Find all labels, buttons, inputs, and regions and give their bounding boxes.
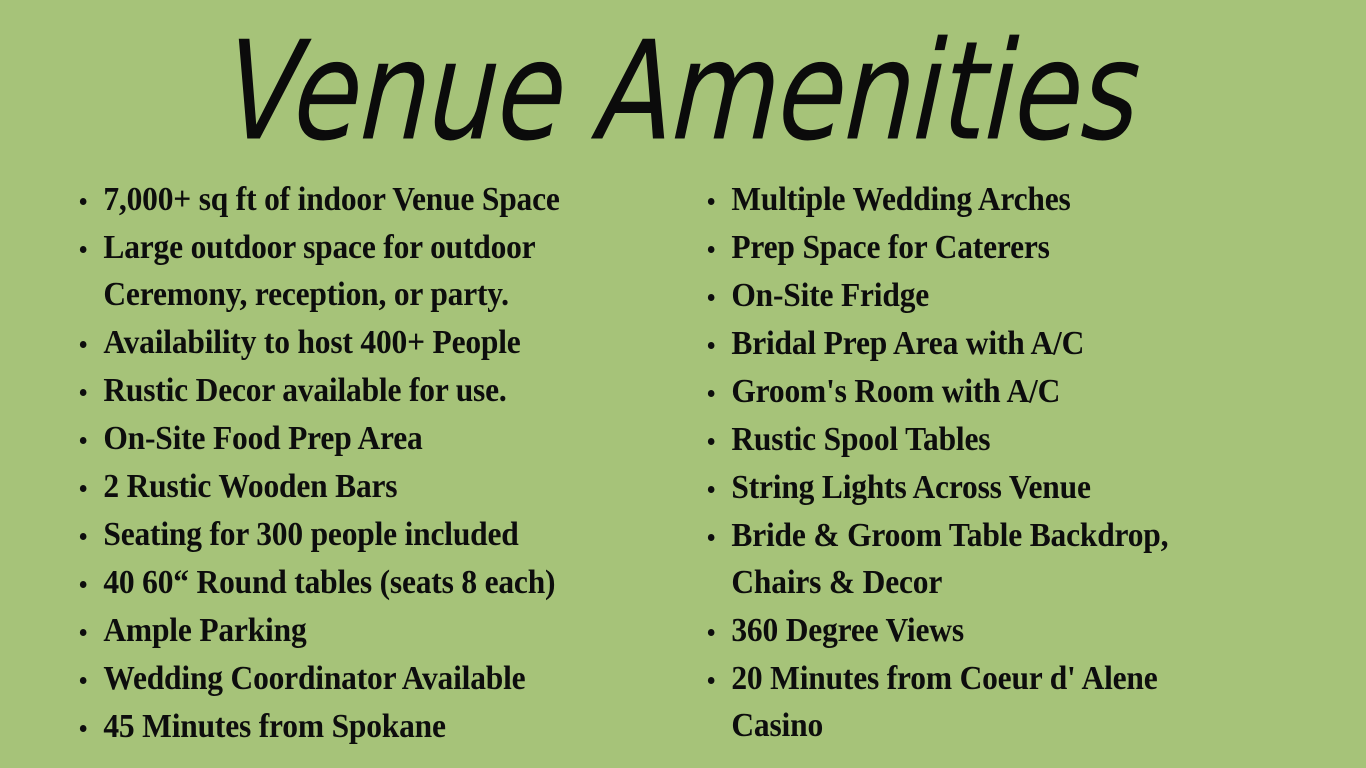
amenity-item-label: 40 60“ Round tables (seats 8 each) <box>103 564 555 601</box>
amenity-item: Bride & Groom Table Backdrop, Chairs & D… <box>706 512 1232 606</box>
amenities-column-right: Multiple Wedding ArchesPrep Space for Ca… <box>660 176 1366 756</box>
amenity-item: Wedding Coordinator Available <box>78 655 625 702</box>
amenity-item: 7,000+ sq ft of indoor Venue Space <box>78 176 625 223</box>
amenity-item: Bridal Prep Area with A/C <box>706 320 1232 367</box>
amenity-item: 2 Rustic Wooden Bars <box>78 463 625 510</box>
slide-canvas: Venue Amenities 7,000+ sq ft of indoor V… <box>0 0 1366 768</box>
amenities-list-left: 7,000+ sq ft of indoor Venue SpaceLarge … <box>78 176 660 750</box>
amenity-item: 360 Degree Views <box>706 607 1232 654</box>
amenity-item: 45 Minutes from Spokane <box>78 703 625 750</box>
amenity-item: Rustic Decor available for use. <box>78 367 625 414</box>
amenity-item-label: Seating for 300 people included <box>103 516 518 553</box>
amenity-item-label: On-Site Fridge <box>731 277 929 314</box>
amenity-item-label: 2 Rustic Wooden Bars <box>103 468 397 505</box>
amenity-item-label: Ample Parking <box>103 612 306 649</box>
amenity-item-label: Rustic Decor available for use. <box>103 372 506 409</box>
amenity-item: On-Site Food Prep Area <box>78 415 625 462</box>
amenity-item-label: Bride & Groom Table Backdrop, Chairs & D… <box>731 517 1168 601</box>
amenity-item-label: Wedding Coordinator Available <box>103 660 525 697</box>
amenity-item-label: On-Site Food Prep Area <box>103 420 422 457</box>
amenity-item-label: 360 Degree Views <box>731 612 964 649</box>
amenity-item: Prep Space for Caterers <box>706 224 1232 271</box>
amenity-item: Seating for 300 people included <box>78 511 625 558</box>
amenity-item: 20 Minutes from Coeur d' Alene Casino <box>706 655 1232 749</box>
amenity-item-label: Groom's Room with A/C <box>731 373 1060 410</box>
amenity-item: Multiple Wedding Arches <box>706 176 1232 223</box>
amenity-item-label: Availability to host 400+ People <box>103 324 520 361</box>
amenity-item-label: Large outdoor space for outdoor Ceremony… <box>103 229 535 313</box>
amenities-list-right: Multiple Wedding ArchesPrep Space for Ca… <box>706 176 1366 749</box>
amenity-item-label: 45 Minutes from Spokane <box>103 708 445 745</box>
amenity-item-label: Bridal Prep Area with A/C <box>731 325 1084 362</box>
amenities-columns: 7,000+ sq ft of indoor Venue SpaceLarge … <box>0 176 1366 756</box>
amenity-item-label: 7,000+ sq ft of indoor Venue Space <box>103 181 559 218</box>
amenity-item: Availability to host 400+ People <box>78 319 625 366</box>
amenity-item: Large outdoor space for outdoor Ceremony… <box>78 224 625 318</box>
amenities-column-left: 7,000+ sq ft of indoor Venue SpaceLarge … <box>0 176 660 756</box>
amenity-item-label: Multiple Wedding Arches <box>731 181 1070 218</box>
title-container: Venue Amenities <box>0 16 1366 166</box>
amenity-item-label: String Lights Across Venue <box>731 469 1090 506</box>
page-title: Venue Amenities <box>223 23 1142 160</box>
amenity-item: Ample Parking <box>78 607 625 654</box>
amenity-item: Rustic Spool Tables <box>706 416 1232 463</box>
amenity-item-label: Prep Space for Caterers <box>731 229 1049 266</box>
amenity-item-label: 20 Minutes from Coeur d' Alene Casino <box>731 660 1157 744</box>
amenity-item: String Lights Across Venue <box>706 464 1232 511</box>
amenity-item: Groom's Room with A/C <box>706 368 1232 415</box>
amenity-item: On-Site Fridge <box>706 272 1232 319</box>
amenity-item-label: Rustic Spool Tables <box>731 421 990 458</box>
amenity-item: 40 60“ Round tables (seats 8 each) <box>78 559 625 606</box>
